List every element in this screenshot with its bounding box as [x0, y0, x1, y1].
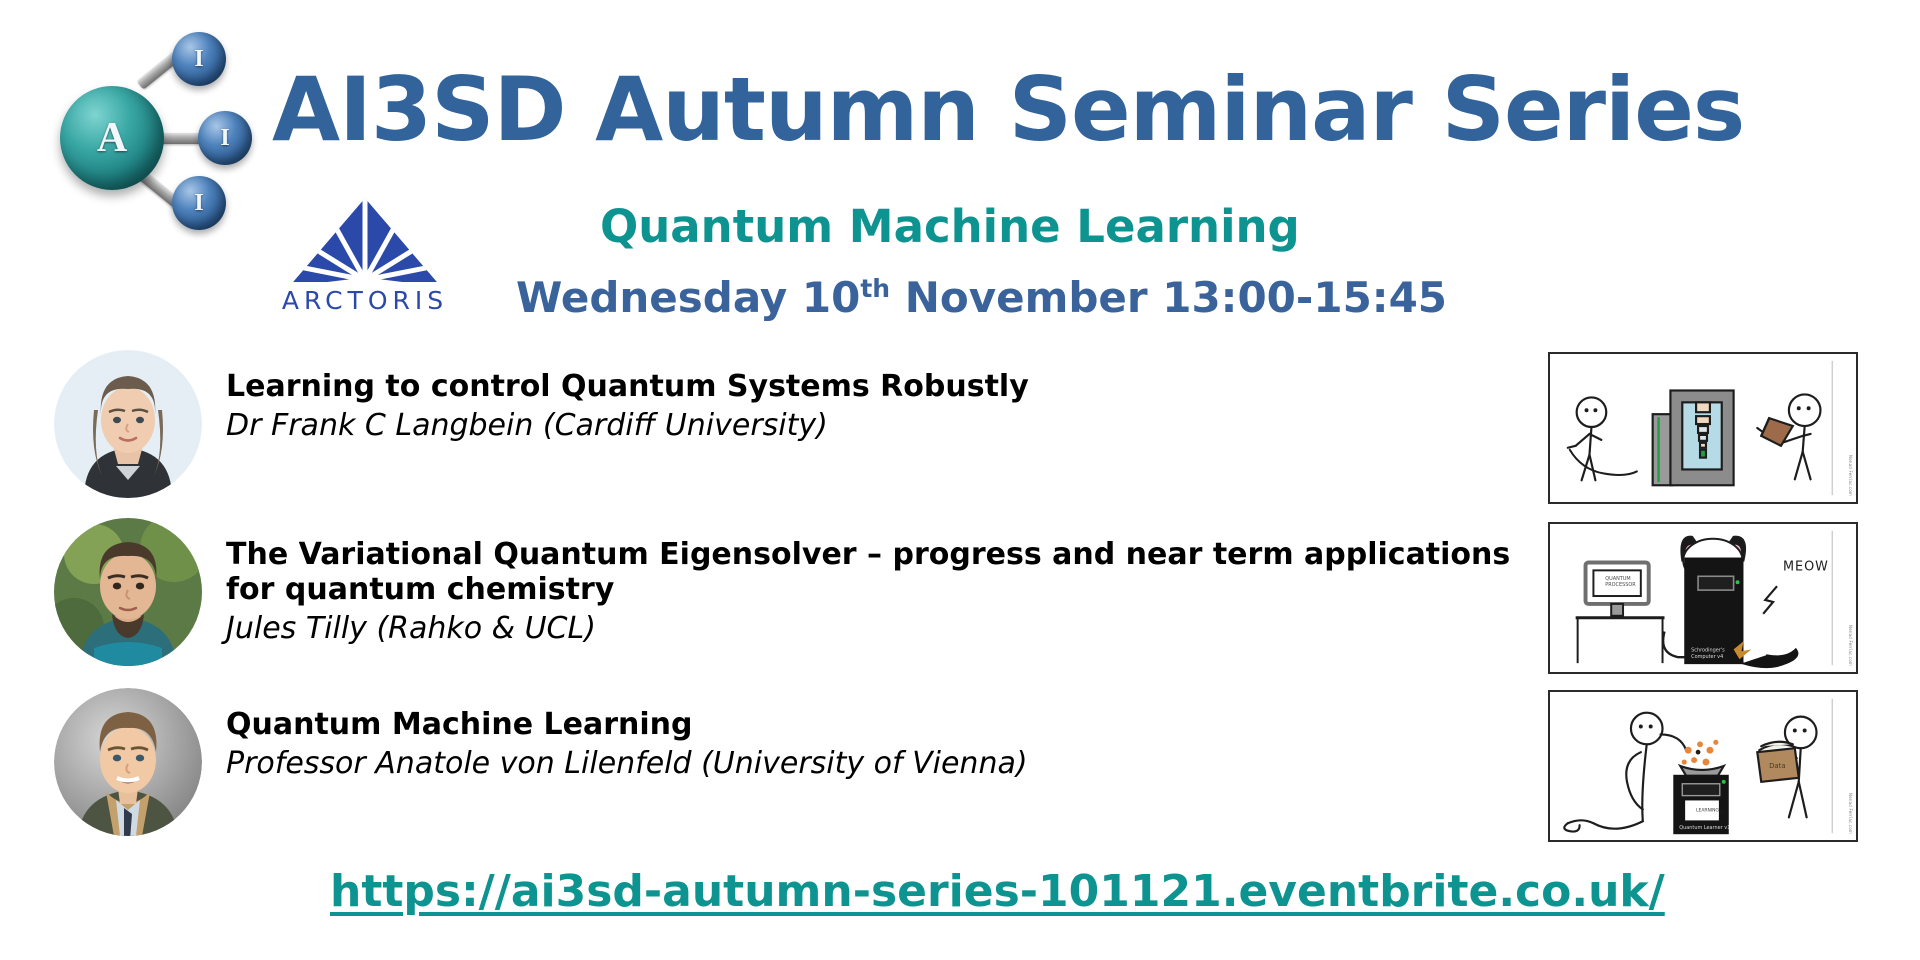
molecule-atom-a-label: A [60, 86, 164, 190]
speaker-text: The Variational Quantum Eigensolver – pr… [226, 518, 1510, 647]
cartoon-panel: LEARNING... Quantum Learner v1 Data Nena… [1548, 690, 1858, 842]
cartoon-credit: Nenad Ferriac.com [1848, 625, 1853, 666]
cartoon-panel: MEOW QUANTUM PROCESSOR Schrodinger's Com… [1548, 522, 1858, 674]
molecule-atom-i-2-label: I [198, 111, 252, 165]
cartoon-credit: Nenad Ferriac.com [1848, 793, 1853, 834]
speaker-entry: The Variational Quantum Eigensolver – pr… [54, 518, 1510, 666]
avatar [54, 350, 202, 498]
avatar [54, 518, 202, 666]
ai3sd-logo: I I I A [48, 18, 278, 233]
svg-text:Quantum Learner v1: Quantum Learner v1 [1679, 825, 1730, 831]
molecule-atom-i-2: I [198, 111, 252, 165]
eventbrite-registration-link[interactable]: https://ai3sd-autumn-series-101121.event… [330, 866, 1665, 917]
talk-speaker: Professor Anatole von Lilenfeld (Univers… [226, 746, 1028, 782]
date-prefix: Wednesday 10 [516, 273, 860, 322]
svg-text:LEARNING...: LEARNING... [1696, 807, 1723, 813]
page-title: AI3SD Autumn Seminar Series [272, 58, 1744, 161]
seminar-subtitle: Quantum Machine Learning [600, 200, 1300, 253]
molecule-atom-i-3-label: I [172, 176, 226, 230]
speaker-entry: Quantum Machine Learning Professor Anato… [54, 688, 1028, 836]
svg-text:Data: Data [1769, 762, 1785, 770]
molecule-atom-a: A [60, 86, 164, 190]
molecule-atom-i-3: I [172, 176, 226, 230]
speaker-text: Learning to control Quantum Systems Robu… [226, 350, 1029, 444]
talk-speaker: Jules Tilly (Rahko & UCL) [226, 611, 1510, 647]
svg-text:Computer v4: Computer v4 [1691, 654, 1723, 660]
date-ordinal-suffix: th [860, 274, 890, 303]
cartoon-panel: Nenad Ferriac.com [1548, 352, 1858, 504]
avatar [54, 688, 202, 836]
talk-title: Quantum Machine Learning [226, 708, 1028, 743]
talk-speaker: Dr Frank C Langbein (Cardiff University) [226, 408, 1029, 444]
cartoon-speech-meow: MEOW [1783, 559, 1829, 574]
molecule-atom-i-1: I [172, 32, 226, 86]
speaker-entry: Learning to control Quantum Systems Robu… [54, 350, 1029, 498]
arctoris-logo: ARCTORIS [280, 196, 450, 316]
talk-title: The Variational Quantum Eigensolver – pr… [226, 538, 1510, 608]
seminar-date-time: Wednesday 10th November 13:00-15:45 [516, 273, 1447, 322]
talk-title: Learning to control Quantum Systems Robu… [226, 370, 1029, 405]
svg-text:PROCESSOR: PROCESSOR [1605, 582, 1636, 588]
speaker-text: Quantum Machine Learning Professor Anato… [226, 688, 1028, 782]
date-suffix: November 13:00-15:45 [890, 273, 1447, 322]
arctoris-wordmark: ARCTORIS [280, 286, 450, 315]
arctoris-triangle-icon [290, 196, 440, 284]
cartoon-credit: Nenad Ferriac.com [1848, 455, 1853, 496]
svg-text:Schrodinger's: Schrodinger's [1691, 647, 1725, 653]
molecule-atom-i-1-label: I [172, 32, 226, 86]
